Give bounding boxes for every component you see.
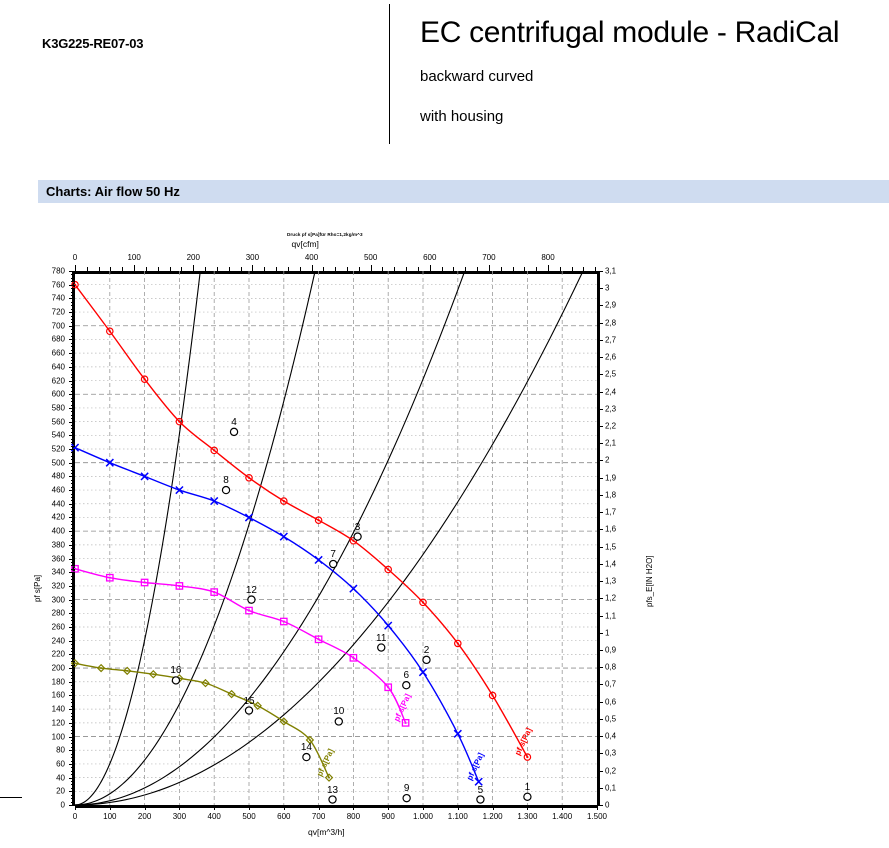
y-minor-tick-right xyxy=(597,663,600,664)
y-minor-tick-left xyxy=(71,689,75,690)
y-tick-label-left: 0 xyxy=(61,801,65,810)
series-marker xyxy=(385,566,391,572)
x-minor-tick-top xyxy=(465,267,466,271)
y-minor-tick-left xyxy=(71,665,75,666)
y-minor-tick-left xyxy=(71,411,75,412)
y-tick-left xyxy=(69,422,75,423)
y-minor-tick-left xyxy=(71,634,75,635)
x-minor-tick-bottom xyxy=(336,805,337,808)
y-minor-tick-left xyxy=(71,456,75,457)
y-minor-tick-left xyxy=(71,346,75,347)
y-minor-tick-left xyxy=(71,281,75,282)
y-tick-left xyxy=(69,627,75,628)
y-tick-label-right: 0,7 xyxy=(605,680,616,689)
y-minor-tick-right xyxy=(597,430,600,431)
y-tick-label-left: 580 xyxy=(52,403,65,412)
y-tick-right xyxy=(597,305,603,306)
y-minor-tick-right xyxy=(597,336,600,337)
x-minor-tick-top xyxy=(442,267,443,271)
y-tick-left xyxy=(69,723,75,724)
y-tick-right xyxy=(597,702,603,703)
x-tick-label-bottom: 400 xyxy=(208,812,221,821)
y-minor-tick-left xyxy=(71,733,75,734)
y-minor-tick-left xyxy=(71,719,75,720)
y-tick-right xyxy=(597,357,603,358)
y-minor-tick-left xyxy=(71,333,75,334)
y-tick-label-right: 3 xyxy=(605,284,609,293)
y-minor-tick-left xyxy=(71,761,75,762)
x-minor-tick-top xyxy=(99,267,100,271)
y-minor-tick-right xyxy=(597,448,600,449)
x-minor-tick-top xyxy=(572,267,573,271)
y-tick-label-left: 160 xyxy=(52,691,65,700)
y-minor-tick-right xyxy=(597,405,600,406)
y-minor-tick-right xyxy=(597,775,600,776)
y-tick-label-right: 2,7 xyxy=(605,335,616,344)
y-minor-tick-right xyxy=(597,469,600,470)
y-minor-tick-left xyxy=(71,487,75,488)
operating-point-label-1: 1 xyxy=(525,782,531,793)
y-minor-tick-left xyxy=(71,565,75,566)
x-minor-tick-top xyxy=(146,267,147,271)
x-tick-label-top: 200 xyxy=(187,253,200,262)
y-tick-right xyxy=(597,512,603,513)
y-minor-tick-right xyxy=(597,400,600,401)
series-marker xyxy=(211,589,217,595)
y-minor-tick-left xyxy=(71,363,75,364)
y-tick-label-right: 1,1 xyxy=(605,611,616,620)
y-minor-tick-left xyxy=(71,617,75,618)
y-tick-label-left: 680 xyxy=(52,335,65,344)
x-tick-bottom xyxy=(353,805,354,810)
y-tick-label-right: 1,5 xyxy=(605,542,616,551)
y-minor-tick-left xyxy=(71,350,75,351)
y-minor-tick-left xyxy=(71,784,75,785)
y-minor-tick-right xyxy=(597,740,600,741)
y-tick-left xyxy=(69,600,75,601)
y-tick-right xyxy=(597,616,603,617)
y-minor-tick-left xyxy=(71,672,75,673)
y-tick-label-right: 1,2 xyxy=(605,594,616,603)
x-minor-tick-bottom xyxy=(266,805,267,808)
x-minor-tick-top xyxy=(300,267,301,271)
y-tick-left xyxy=(69,394,75,395)
y-minor-tick-right xyxy=(597,727,600,728)
y-tick-right xyxy=(597,564,603,565)
y-tick-label-right: 0,5 xyxy=(605,714,616,723)
y-tick-label-left: 60 xyxy=(56,759,65,768)
y-minor-tick-right xyxy=(597,796,600,797)
operating-point-label-6: 6 xyxy=(404,670,410,681)
y-tick-right xyxy=(597,271,603,272)
series-marker xyxy=(254,702,261,709)
y-minor-tick-left xyxy=(71,446,75,447)
y-tick-right xyxy=(597,771,603,772)
x-tick-label-bottom: 600 xyxy=(277,812,290,821)
y-tick-left xyxy=(69,791,75,792)
y-minor-tick-left xyxy=(71,774,75,775)
x-tick-label-bottom: 1.100 xyxy=(448,812,468,821)
y-tick-label-right: 2,2 xyxy=(605,422,616,431)
y-tick-label-right: 0,6 xyxy=(605,697,616,706)
y-tick-label-right: 1,6 xyxy=(605,525,616,534)
series-marker xyxy=(141,473,148,480)
y-minor-tick-left xyxy=(71,302,75,303)
y-tick-left xyxy=(69,285,75,286)
y-tick-label-left: 380 xyxy=(52,540,65,549)
y-minor-tick-left xyxy=(71,771,75,772)
operating-point-marker xyxy=(403,795,410,802)
y-tick-label-left: 320 xyxy=(52,581,65,590)
y-minor-tick-right xyxy=(597,620,600,621)
y-minor-tick-left xyxy=(71,278,75,279)
y-minor-tick-left xyxy=(71,802,75,803)
series-marker xyxy=(141,376,147,382)
x-tick-top xyxy=(193,265,194,271)
y-minor-tick-right xyxy=(597,680,600,681)
y-minor-tick-left xyxy=(71,620,75,621)
operating-point-label-14: 14 xyxy=(301,742,312,753)
x-tick-label-bottom: 1.200 xyxy=(483,812,503,821)
y-tick-label-left: 540 xyxy=(52,431,65,440)
y-tick-label-right: 0,2 xyxy=(605,766,616,775)
x-tick-label-bottom: 700 xyxy=(312,812,325,821)
y-tick-label-left: 640 xyxy=(52,362,65,371)
axis-title-top: qv[cfm] xyxy=(292,239,319,249)
x-tick-label-top: 0 xyxy=(73,253,77,262)
y-minor-tick-left xyxy=(71,730,75,731)
y-tick-label-right: 2,9 xyxy=(605,301,616,310)
x-tick-top xyxy=(489,265,490,271)
x-minor-tick-top xyxy=(170,267,171,271)
x-tick-label-bottom: 900 xyxy=(382,812,395,821)
y-minor-tick-left xyxy=(71,428,75,429)
y-minor-tick-right xyxy=(597,508,600,509)
x-tick-bottom xyxy=(284,805,285,810)
system-curve-d xyxy=(75,271,583,805)
y-tick-label-right: 0,4 xyxy=(605,732,616,741)
y-minor-tick-left xyxy=(71,562,75,563)
y-minor-tick-left xyxy=(71,576,75,577)
y-minor-tick-left xyxy=(71,747,75,748)
y-minor-tick-left xyxy=(71,569,75,570)
y-minor-tick-left xyxy=(71,524,75,525)
y-tick-label-left: 660 xyxy=(52,349,65,358)
y-minor-tick-left xyxy=(71,466,75,467)
series-marker xyxy=(228,691,235,698)
y-minor-tick-left xyxy=(71,292,75,293)
series-marker xyxy=(281,498,287,504)
series-marker xyxy=(455,640,461,646)
y-tick-label-left: 400 xyxy=(52,527,65,536)
y-tick-right xyxy=(597,392,603,393)
y-minor-tick-left xyxy=(71,274,75,275)
y-tick-left xyxy=(69,695,75,696)
x-tick-label-top: 500 xyxy=(364,253,377,262)
y-minor-tick-left xyxy=(71,288,75,289)
y-tick-right xyxy=(597,753,603,754)
y-minor-tick-left xyxy=(71,521,75,522)
series-marker xyxy=(246,475,252,481)
x-tick-label-bottom: 500 xyxy=(242,812,255,821)
y-tick-label-right: 2,6 xyxy=(605,353,616,362)
y-tick-label-right: 1,9 xyxy=(605,473,616,482)
y-tick-left xyxy=(69,326,75,327)
y-minor-tick-right xyxy=(597,387,600,388)
x-minor-tick-top xyxy=(229,267,230,271)
operating-point-marker xyxy=(245,707,252,714)
x-minor-tick-bottom xyxy=(580,805,581,808)
series-marker xyxy=(419,669,426,676)
series-marker xyxy=(420,599,426,605)
y-minor-tick-right xyxy=(597,473,600,474)
y-tick-right xyxy=(597,478,603,479)
x-tick-label-bottom: 300 xyxy=(173,812,186,821)
x-tick-label-bottom: 800 xyxy=(347,812,360,821)
y-tick-label-left: 200 xyxy=(52,664,65,673)
operating-point-label-5: 5 xyxy=(478,785,484,796)
y-minor-tick-left xyxy=(71,425,75,426)
y-tick-left xyxy=(69,463,75,464)
y-minor-tick-left xyxy=(71,579,75,580)
y-tick-label-left: 340 xyxy=(52,568,65,577)
y-minor-tick-left xyxy=(71,555,75,556)
operating-point-label-9: 9 xyxy=(404,783,410,794)
y-tick-left xyxy=(69,449,75,450)
y-minor-tick-right xyxy=(597,641,600,642)
y-minor-tick-right xyxy=(597,525,600,526)
x-tick-label-bottom: 200 xyxy=(138,812,151,821)
y-minor-tick-right xyxy=(597,344,600,345)
y-minor-tick-left xyxy=(71,319,75,320)
x-minor-tick-top xyxy=(394,267,395,271)
x-minor-tick-top xyxy=(181,267,182,271)
x-minor-tick-top xyxy=(453,267,454,271)
y-minor-tick-left xyxy=(71,754,75,755)
y-tick-label-left: 220 xyxy=(52,650,65,659)
series-marker xyxy=(315,556,322,563)
x-minor-tick-top xyxy=(524,267,525,271)
y-minor-tick-right xyxy=(597,293,600,294)
y-minor-tick-right xyxy=(597,542,600,543)
y-minor-tick-right xyxy=(597,745,600,746)
y-tick-label-left: 260 xyxy=(52,623,65,632)
header-divider xyxy=(389,4,390,144)
system-curve-a xyxy=(75,271,200,805)
y-minor-tick-left xyxy=(71,651,75,652)
y-minor-tick-right xyxy=(597,676,600,677)
y-tick-label-left: 600 xyxy=(52,390,65,399)
y-tick-label-left: 440 xyxy=(52,499,65,508)
x-minor-tick-bottom xyxy=(162,805,163,808)
y-tick-left xyxy=(69,641,75,642)
y-minor-tick-left xyxy=(71,637,75,638)
y-tick-right xyxy=(597,633,603,634)
y-minor-tick-right xyxy=(597,572,600,573)
y-minor-tick-right xyxy=(597,766,600,767)
y-minor-tick-right xyxy=(597,603,600,604)
x-minor-tick-top xyxy=(217,267,218,271)
product-subtitle-2: with housing xyxy=(420,108,503,125)
x-minor-tick-top xyxy=(347,267,348,271)
x-minor-tick-top xyxy=(110,267,111,271)
y-minor-tick-right xyxy=(597,396,600,397)
y-minor-tick-left xyxy=(71,528,75,529)
y-minor-tick-right xyxy=(597,568,600,569)
y-tick-left xyxy=(69,339,75,340)
operating-point-marker xyxy=(477,796,484,803)
y-minor-tick-right xyxy=(597,654,600,655)
y-minor-tick-right xyxy=(597,331,600,332)
y-tick-right xyxy=(597,805,603,806)
y-minor-tick-right xyxy=(597,275,600,276)
operating-point-marker xyxy=(354,533,361,540)
x-tick-label-top: 700 xyxy=(482,253,495,262)
x-tick-bottom xyxy=(110,805,111,810)
y-minor-tick-right xyxy=(597,762,600,763)
x-tick-label-bottom: 1.300 xyxy=(517,812,537,821)
x-tick-bottom xyxy=(179,805,180,810)
y-tick-label-left: 480 xyxy=(52,472,65,481)
y-minor-tick-left xyxy=(71,606,75,607)
x-minor-tick-bottom xyxy=(301,805,302,808)
y-minor-tick-left xyxy=(71,322,75,323)
y-tick-label-left: 720 xyxy=(52,308,65,317)
x-minor-tick-top xyxy=(513,267,514,271)
y-minor-tick-left xyxy=(71,483,75,484)
y-tick-label-left: 740 xyxy=(52,294,65,303)
y-tick-left xyxy=(69,668,75,669)
y-tick-label-left: 520 xyxy=(52,445,65,454)
y-minor-tick-right xyxy=(597,624,600,625)
x-minor-tick-bottom xyxy=(92,805,93,808)
operating-point-label-12: 12 xyxy=(246,585,257,596)
x-minor-tick-top xyxy=(406,267,407,271)
y-minor-tick-right xyxy=(597,732,600,733)
y-minor-tick-right xyxy=(597,646,600,647)
y-tick-right xyxy=(597,581,603,582)
x-tick-label-top: 600 xyxy=(423,253,436,262)
x-tick-label-bottom: 0 xyxy=(73,812,77,821)
y-tick-label-left: 80 xyxy=(56,746,65,755)
x-minor-tick-top xyxy=(583,267,584,271)
y-minor-tick-right xyxy=(597,758,600,759)
y-minor-tick-left xyxy=(71,387,75,388)
y-minor-tick-left xyxy=(71,716,75,717)
x-tick-label-top: 800 xyxy=(541,253,554,262)
y-minor-tick-right xyxy=(597,456,600,457)
y-minor-tick-right xyxy=(597,555,600,556)
x-tick-bottom xyxy=(493,805,494,810)
y-minor-tick-right xyxy=(597,422,600,423)
y-tick-left xyxy=(69,778,75,779)
y-minor-tick-left xyxy=(71,661,75,662)
y-tick-left xyxy=(69,531,75,532)
y-tick-right xyxy=(597,374,603,375)
y-minor-tick-right xyxy=(597,792,600,793)
y-tick-right xyxy=(597,736,603,737)
y-minor-tick-right xyxy=(597,706,600,707)
y-minor-tick-right xyxy=(597,301,600,302)
y-minor-tick-right xyxy=(597,314,600,315)
y-minor-tick-left xyxy=(71,726,75,727)
operating-point-label-10: 10 xyxy=(333,706,344,717)
x-minor-tick-top xyxy=(323,267,324,271)
y-minor-tick-right xyxy=(597,607,600,608)
fan-curve-2 xyxy=(71,444,482,785)
y-tick-label-left: 120 xyxy=(52,718,65,727)
y-minor-tick-right xyxy=(597,297,600,298)
y-minor-tick-left xyxy=(71,374,75,375)
operating-point-label-7: 7 xyxy=(330,549,336,560)
y-minor-tick-left xyxy=(71,630,75,631)
y-minor-tick-left xyxy=(71,329,75,330)
operating-point-label-13: 13 xyxy=(327,785,338,796)
series-marker xyxy=(106,459,113,466)
y-tick-right xyxy=(597,323,603,324)
x-minor-tick-top xyxy=(276,267,277,271)
y-tick-right xyxy=(597,409,603,410)
y-minor-tick-right xyxy=(597,715,600,716)
y-tick-label-right: 0,8 xyxy=(605,663,616,672)
y-minor-tick-left xyxy=(71,658,75,659)
x-minor-tick-top xyxy=(501,267,502,271)
y-tick-label-left: 180 xyxy=(52,677,65,686)
y-minor-tick-right xyxy=(597,465,600,466)
x-tick-top xyxy=(371,265,372,271)
y-minor-tick-right xyxy=(597,779,600,780)
y-minor-tick-right xyxy=(597,310,600,311)
y-minor-tick-right xyxy=(597,611,600,612)
y-minor-tick-left xyxy=(71,675,75,676)
series-marker xyxy=(350,585,357,592)
x-minor-tick-top xyxy=(122,267,123,271)
fan-curve-1 xyxy=(72,281,531,760)
x-minor-tick-bottom xyxy=(127,805,128,808)
y-minor-tick-right xyxy=(597,439,600,440)
operating-point-marker xyxy=(248,596,255,603)
y-tick-right xyxy=(597,529,603,530)
y-tick-label-right: 2,8 xyxy=(605,318,616,327)
y-minor-tick-left xyxy=(71,538,75,539)
y-minor-tick-right xyxy=(597,361,600,362)
x-tick-label-bottom: 100 xyxy=(103,812,116,821)
y-minor-tick-left xyxy=(71,511,75,512)
x-tick-bottom xyxy=(249,805,250,810)
x-tick-bottom xyxy=(527,805,528,810)
series-marker xyxy=(454,730,461,737)
y-tick-label-left: 300 xyxy=(52,595,65,604)
y-tick-right xyxy=(597,547,603,548)
x-tick-bottom xyxy=(562,805,563,810)
operating-point-marker xyxy=(222,486,229,493)
x-minor-tick-bottom xyxy=(510,805,511,808)
y-minor-tick-right xyxy=(597,749,600,750)
chart-title: Druck pf s[Pa]für Rho=1,2kg/m^3 xyxy=(287,232,363,237)
y-minor-tick-right xyxy=(597,284,600,285)
y-tick-right xyxy=(597,650,603,651)
y-tick-left xyxy=(69,545,75,546)
y-tick-label-left: 100 xyxy=(52,732,65,741)
series-marker xyxy=(402,720,408,726)
series-marker xyxy=(524,754,530,760)
y-tick-label-right: 2,3 xyxy=(605,404,616,413)
y-minor-tick-left xyxy=(71,384,75,385)
y-minor-tick-left xyxy=(71,648,75,649)
y-tick-label-right: 1,7 xyxy=(605,508,616,517)
y-minor-tick-left xyxy=(71,309,75,310)
x-minor-tick-top xyxy=(87,267,88,271)
